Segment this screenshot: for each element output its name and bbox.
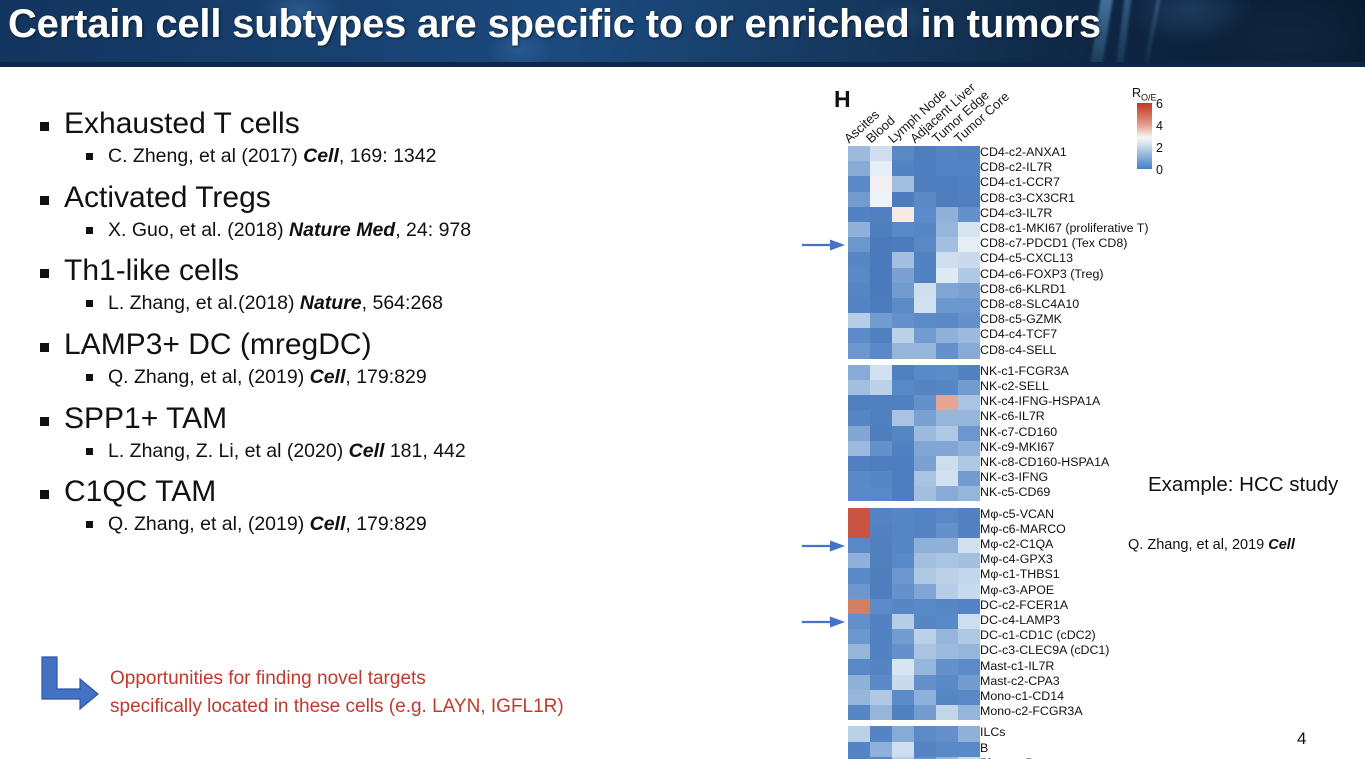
heatmap-row [848,268,980,283]
heatmap-cell [848,644,870,659]
heatmap-cell [848,426,870,441]
bullet-item-lamp3-dc: LAMP3+ DC (mregDC) [34,329,674,360]
heatmap-row [848,675,980,690]
heatmap-cell [958,644,980,659]
heatmap-row [848,614,980,629]
heatmap-row [848,146,980,161]
legend-tick-2: 2 [1156,141,1163,155]
heatmap-cell [848,599,870,614]
heatmap-cell [848,395,870,410]
reference-suffix: , 169: 1342 [339,145,437,167]
heatmap-cell [892,523,914,538]
heatmap-cell [914,222,936,237]
heatmap-cell [870,486,892,501]
heatmap-cell [958,523,980,538]
bullet-square-icon [86,521,93,528]
heatmap-row [848,471,980,486]
heatmap-cell [958,237,980,252]
heatmap-row [848,441,980,456]
heatmap-cell [914,328,936,343]
title-banner: Certain cell subtypes are specific to or… [0,0,1365,62]
heatmap-cell [958,426,980,441]
heatmap-cell [958,456,980,471]
heatmap-cell [892,614,914,629]
heatmap-cell [936,237,958,252]
heatmap-cell [958,441,980,456]
heatmap-cell [848,161,870,176]
row-label: DC-c4-LAMP3 [980,613,1060,628]
heatmap-cell [936,395,958,410]
row-label: NK-c2-SELL [980,379,1049,394]
heatmap-cell [870,508,892,523]
heatmap-cell [958,268,980,283]
heatmap-cell [892,599,914,614]
row-label: Mono-c1-CD14 [980,689,1064,704]
heatmap-cell [958,584,980,599]
heatmap-row [848,629,980,644]
row-label: CD8-c4-SELL [980,343,1056,358]
heatmap-cell [914,742,936,757]
heatmap-cell [958,538,980,553]
bullet-reference: L. Zhang, Z. Li, et al (2020) Cell 181, … [34,441,674,462]
heatmap-cell [936,328,958,343]
heatmap-cell [870,705,892,720]
banner-underline [0,62,1365,67]
example-caption: Example: HCC study [1148,473,1338,497]
heatmap-cell [848,222,870,237]
heatmap-row [848,237,980,252]
heatmap-cell [936,644,958,659]
heatmap-cell [936,441,958,456]
legend-tick-4: 4 [1156,119,1163,133]
heatmap-cell [892,268,914,283]
heatmap-cell [958,343,980,358]
heatmap-cell [936,538,958,553]
heatmap-cell [914,283,936,298]
heatmap-cell [848,298,870,313]
heatmap-cell [870,471,892,486]
legend-tick-6: 6 [1156,97,1163,111]
bullet-label: SPP1+ TAM [64,402,227,435]
heatmap-row [848,486,980,501]
bullet-item-spp1-tam: SPP1+ TAM [34,403,674,434]
heatmap-cell [914,523,936,538]
heatmap-cell [892,486,914,501]
heatmap-cell [936,486,958,501]
heatmap-cell [848,523,870,538]
heatmap-cell [958,675,980,690]
banner-streak [1114,0,1133,62]
heatmap-cell [936,659,958,674]
heatmap-row [848,313,980,328]
heatmap-cell [892,237,914,252]
bullet-label: LAMP3+ DC (mregDC) [64,328,372,361]
heatmap-cell [914,237,936,252]
heatmap-row [848,644,980,659]
heatmap-cell [848,675,870,690]
heatmap-cell [914,395,936,410]
heatmap-cell [914,644,936,659]
heatmap-cell [892,644,914,659]
heatmap-cell [914,380,936,395]
row-label: Mono-c2-FCGR3A [980,704,1083,719]
heatmap-cell [936,222,958,237]
row-label: Mφ-c6-MARCO [980,522,1066,537]
heatmap-cell [914,161,936,176]
heatmap-cell [936,471,958,486]
heatmap-cell [870,614,892,629]
heatmap-cell [914,268,936,283]
heatmap-cell [870,176,892,191]
heatmap-row [848,380,980,395]
heatmap-cell [936,365,958,380]
heatmap-cell [914,614,936,629]
heatmap-row [848,192,980,207]
heatmap-cell [848,538,870,553]
heatmap-cell [892,395,914,410]
row-label: CD8-c7-PDCD1 (Tex CD8) [980,236,1127,251]
heatmap-cell [870,599,892,614]
heatmap-cell [892,659,914,674]
heatmap-cell [870,538,892,553]
heatmap-cell [870,343,892,358]
heatmap-cell [958,486,980,501]
bullet-square-icon [40,417,49,426]
reference-suffix: , 24: 978 [395,219,471,241]
heatmap-cell [892,441,914,456]
heatmap-cell [936,268,958,283]
heatmap-cell [958,283,980,298]
heatmap-cell [870,742,892,757]
row-label: NK-c4-IFNG-HSPA1A [980,394,1100,409]
row-label: CD8-c1-MKI67 (proliferative T) [980,221,1148,236]
heatmap-cell [914,705,936,720]
row-label: Mφ-c2-C1QA [980,537,1053,552]
heatmap-cell [848,726,870,741]
heatmap-cell [892,298,914,313]
heatmap-cell [958,690,980,705]
heatmap-cell [892,410,914,425]
reference-suffix: , 179:829 [345,366,426,388]
heatmap-cell [848,283,870,298]
heatmap-row [848,508,980,523]
heatmap-cell [870,659,892,674]
heatmap-cell [914,659,936,674]
heatmap-cell [936,568,958,583]
heatmap-cell [958,222,980,237]
bullet-label: C1QC TAM [64,475,216,508]
row-label: CD4-c5-CXCL13 [980,251,1073,266]
heatmap-cell [892,456,914,471]
heatmap-row [848,298,980,313]
heatmap-cell [936,599,958,614]
heatmap-cell [914,471,936,486]
reference-prefix: Q. Zhang, et al, (2019) [108,513,310,535]
row-label: NK-c6-IL7R [980,409,1045,424]
heatmap-cell [892,742,914,757]
bullet-reference: X. Guo, et al. (2018) Nature Med, 24: 97… [34,220,674,241]
reference-suffix: 181, 442 [384,440,465,462]
heatmap-cell [958,365,980,380]
heatmap-cell [914,426,936,441]
heatmap-cell [848,268,870,283]
heatmap-row [848,538,980,553]
heatmap-cell [848,343,870,358]
heatmap-pointer-arrow [802,616,846,628]
row-label: CD8-c5-GZMK [980,312,1062,327]
heatmap-cell [914,599,936,614]
heatmap-cell [848,441,870,456]
heatmap-cell [914,410,936,425]
heatmap-block-0 [848,146,980,359]
heatmap-cell [936,675,958,690]
heatmap-row [848,395,980,410]
heatmap-cell [892,380,914,395]
heatmap-figure: H AscitesBloodLymph NodeAdjacent LiverTu… [820,78,1220,754]
heatmap-cell [870,410,892,425]
heatmap-cell [848,380,870,395]
heatmap-cell [892,508,914,523]
row-label: NK-c1-FCGR3A [980,364,1069,379]
heatmap-cell [848,629,870,644]
heatmap-cell [848,328,870,343]
heatmap-cell [892,176,914,191]
heatmap-column-labels: AscitesBloodLymph NodeAdjacent LiverTumo… [820,78,1040,146]
heatmap-cell [936,426,958,441]
heatmap-cell [892,192,914,207]
heatmap-cell [958,298,980,313]
heatmap-cell [936,553,958,568]
heatmap-cell [870,313,892,328]
heatmap-cell [958,568,980,583]
heatmap-cell [870,726,892,741]
bullet-square-icon [40,490,49,499]
banner-streak [1142,0,1161,62]
callout-line-2: specifically located in these cells (e.g… [110,693,564,721]
heatmap-cell [936,176,958,191]
color-legend: RO/E 6420 [1132,86,1212,174]
bullet-square-icon [86,448,93,455]
heatmap-row [848,553,980,568]
heatmap-cell [848,614,870,629]
heatmap-cell [848,313,870,328]
heatmap-cell [892,161,914,176]
bullet-square-icon [40,343,49,352]
row-label: CD8-c8-SLC4A10 [980,297,1079,312]
heatmap-cell [870,380,892,395]
source-journal: Cell [1268,537,1295,553]
slide-title: Certain cell subtypes are specific to or… [8,2,1101,47]
heatmap-cell [958,192,980,207]
heatmap-cell [870,237,892,252]
heatmap-pointer-arrow [802,239,846,251]
heatmap-cell [870,523,892,538]
bullet-label: Exhausted T cells [64,107,300,140]
heatmap-cell [848,659,870,674]
heatmap-cell [936,456,958,471]
heatmap-row [848,328,980,343]
heatmap-cell [848,508,870,523]
heatmap-block-3 [848,726,980,759]
heatmap-cell [892,222,914,237]
heatmap-cell [848,584,870,599]
heatmap-cell [892,471,914,486]
heatmap-row [848,523,980,538]
heatmap-cell [936,207,958,222]
row-label: CD4-c3-IL7R [980,206,1052,221]
row-label: NK-c9-MKI67 [980,440,1054,455]
source-caption: Q. Zhang, et al, 2019 Cell [1128,537,1295,553]
heatmap-cell [892,690,914,705]
heatmap-cell [892,252,914,267]
bullet-reference: Q. Zhang, et al, (2019) Cell, 179:829 [34,514,674,535]
heatmap-cell [870,553,892,568]
heatmap-cell [870,161,892,176]
heatmap-cell [914,313,936,328]
heatmap-cell [892,568,914,583]
row-label: DC-c1-CD1C (cDC2) [980,628,1096,643]
heatmap-cell [892,584,914,599]
heatmap-cell [870,426,892,441]
heatmap-cell [936,523,958,538]
row-label: Mφ-c1-THBS1 [980,567,1060,582]
row-label: Mast-c2-CPA3 [980,674,1060,689]
heatmap-cell [870,690,892,705]
bullet-square-icon [86,153,93,160]
heatmap-cell [958,252,980,267]
heatmap-cell [936,192,958,207]
heatmap-row [848,659,980,674]
heatmap-cell [914,343,936,358]
heatmap-cell [914,176,936,191]
heatmap-row [848,343,980,358]
reference-suffix: , 179:829 [345,513,426,535]
heatmap-cell [892,328,914,343]
row-label: DC-c3-CLEC9A (cDC1) [980,643,1109,658]
heatmap-cell [848,705,870,720]
heatmap-cell [892,283,914,298]
heatmap-cell [892,705,914,720]
heatmap-row [848,584,980,599]
heatmap-cell [958,471,980,486]
heatmap-cell [848,553,870,568]
heatmap-row [848,207,980,222]
heatmap-cell [914,252,936,267]
reference-journal: Cell [310,513,346,535]
row-label: CD4-c1-CCR7 [980,175,1060,190]
heatmap-cell [914,629,936,644]
heatmap-cell [892,343,914,358]
heatmap-cell [936,380,958,395]
heatmap-cell [848,456,870,471]
bullet-item-th1-like-cells: Th1-like cells [34,255,674,286]
heatmap-cell [958,508,980,523]
bullet-square-icon [40,269,49,278]
heatmap-cell [958,176,980,191]
row-label: Mast-c1-IL7R [980,659,1054,674]
bullet-reference: Q. Zhang, et al, (2019) Cell, 179:829 [34,367,674,388]
heatmap-cell [914,690,936,705]
heatmap-row [848,252,980,267]
row-label: CD8-c6-KLRD1 [980,282,1066,297]
heatmap-cell [914,365,936,380]
heatmap-cell [892,553,914,568]
heatmap-cell [870,252,892,267]
heatmap-cell [870,268,892,283]
heatmap-cell [914,486,936,501]
heatmap-cell [848,237,870,252]
heatmap-cell [936,343,958,358]
row-label: NK-c3-IFNG [980,470,1048,485]
heatmap-cell [870,441,892,456]
heatmap-cell [848,176,870,191]
heatmap-cell [936,410,958,425]
heatmap-cell [848,410,870,425]
heatmap-cell [848,192,870,207]
reference-prefix: Q. Zhang, et al, (2019) [108,366,310,388]
heatmap-cell [958,380,980,395]
heatmap-cell [914,553,936,568]
heatmap-cell [914,508,936,523]
bullet-square-icon [86,300,93,307]
heatmap-cell [958,742,980,757]
heatmap-cell [914,456,936,471]
row-label: CD4-c6-FOXP3 (Treg) [980,267,1103,282]
heatmap-cell [936,614,958,629]
heatmap-cell [958,705,980,720]
heatmap-cell [958,207,980,222]
heatmap-cell [936,705,958,720]
callout-text: Opportunities for finding novel targets … [110,665,564,720]
heatmap-cell [870,456,892,471]
heatmap-cell [892,426,914,441]
heatmap-cell [958,161,980,176]
heatmap-cell [936,508,958,523]
bullet-item-exhausted-t-cells: Exhausted T cells [34,108,674,139]
heatmap-cell [848,742,870,757]
page-number: 4 [1297,729,1306,749]
heatmap-cell [958,553,980,568]
heatmap-row [848,176,980,191]
row-label: NK-c7-CD160 [980,425,1057,440]
elbow-arrow-icon [38,655,100,711]
heatmap-cell [848,690,870,705]
heatmap-cell [870,644,892,659]
heatmap-cell [914,584,936,599]
bullet-square-icon [86,374,93,381]
heatmap-cell [892,675,914,690]
heatmap-row [848,705,980,720]
heatmap-cell [936,629,958,644]
heatmap-cell [848,486,870,501]
row-label: CD4-c2-ANXA1 [980,145,1067,160]
legend-colorbar [1136,102,1153,170]
heatmap-cell [870,568,892,583]
heatmap-cell [958,395,980,410]
legend-tick-0: 0 [1156,163,1163,177]
heatmap-cell [936,298,958,313]
bullet-list: Exhausted T cells C. Zheng, et al (2017)… [34,108,674,550]
bullet-square-icon [40,196,49,205]
heatmap-cell [870,629,892,644]
bullet-reference: L. Zhang, et al.(2018) Nature, 564:268 [34,293,674,314]
heatmap-cell [958,410,980,425]
heatmap-cell [958,313,980,328]
heatmap-cell [848,365,870,380]
heatmap-cell [914,146,936,161]
heatmap-cell [958,146,980,161]
heatmap-cell [870,584,892,599]
